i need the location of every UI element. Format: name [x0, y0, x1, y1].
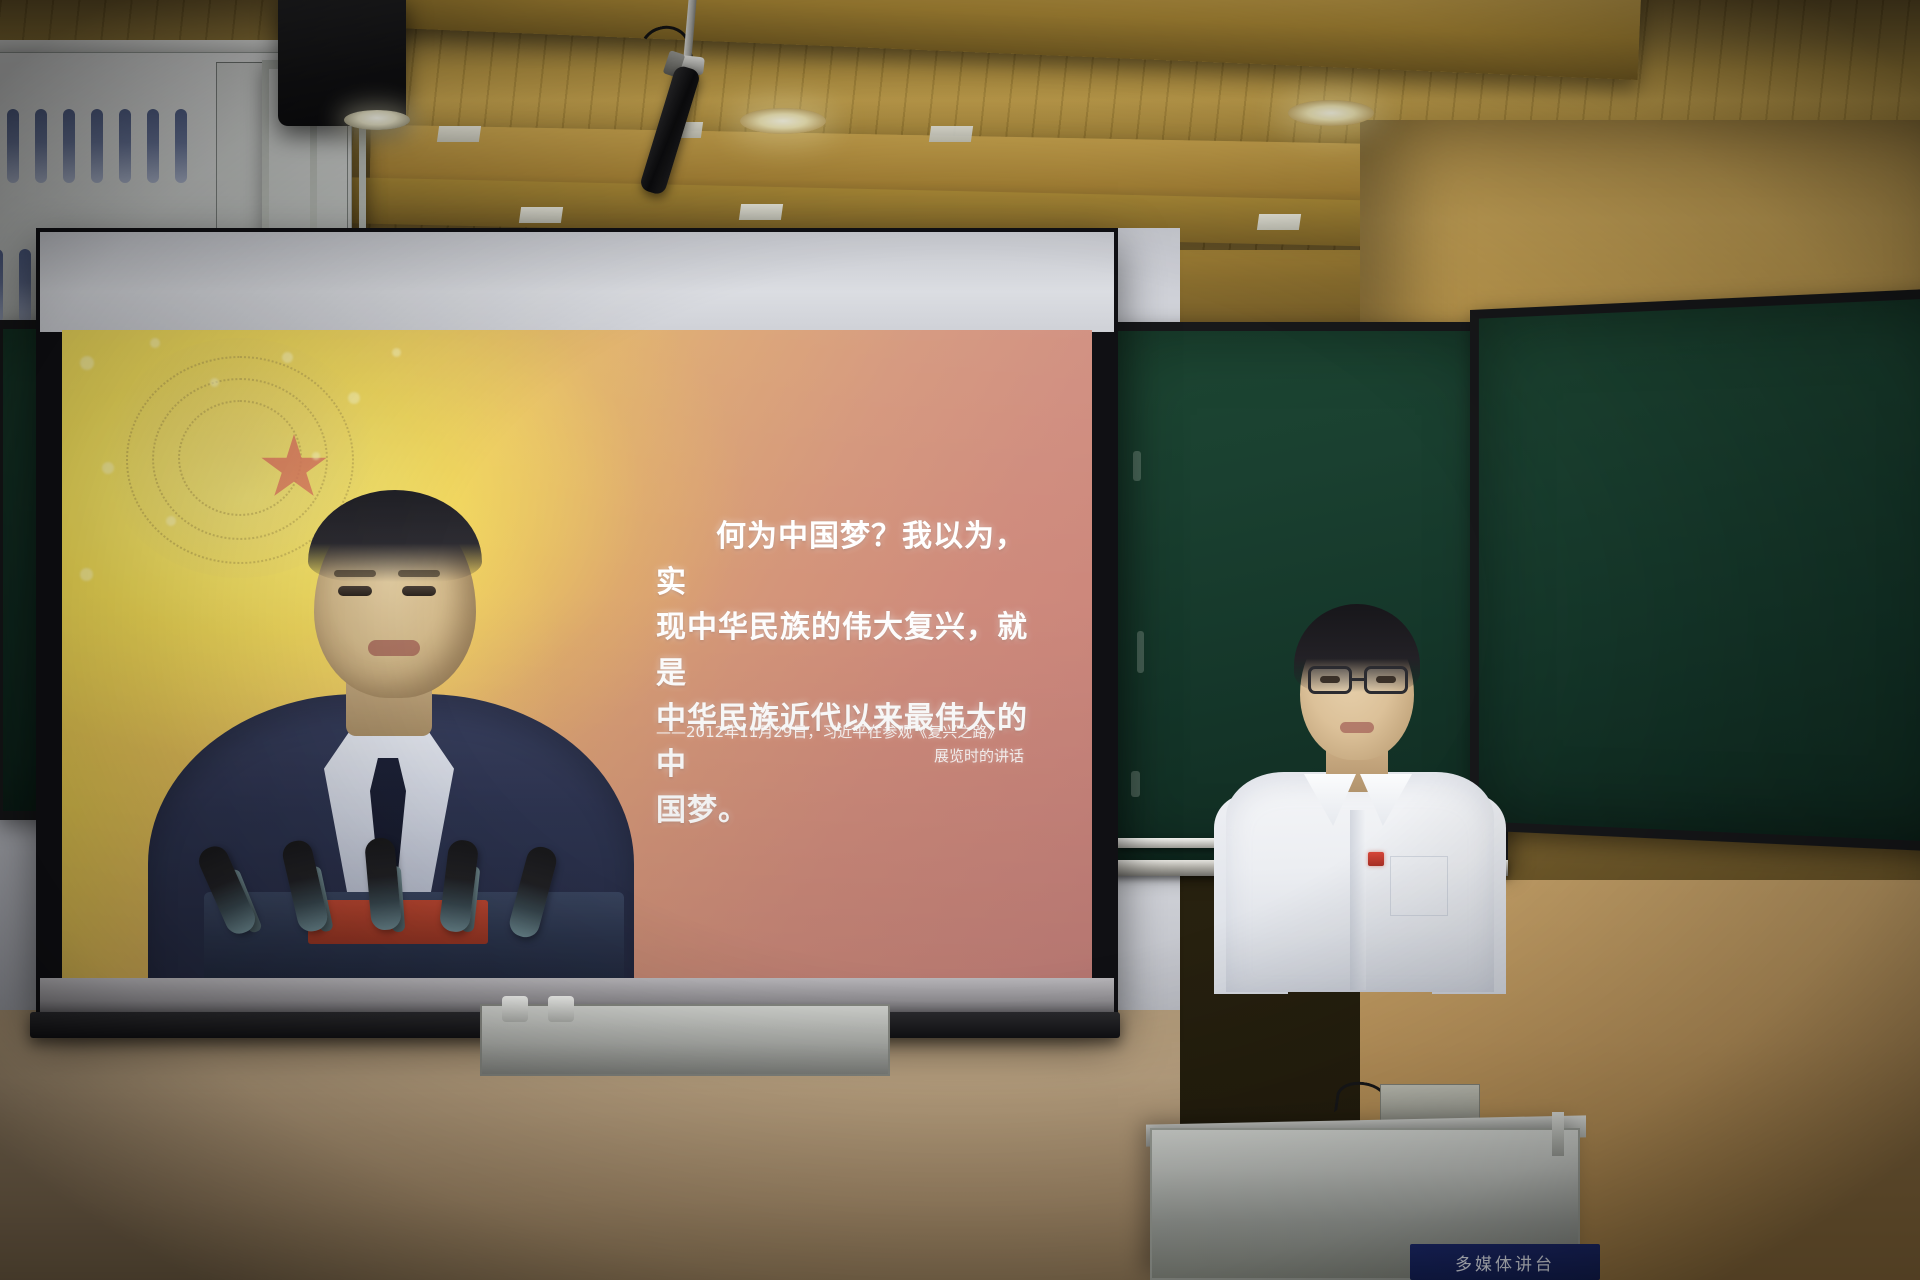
- presentation-slide: 何为中国梦？我以为，实 现中华民族的伟大复兴，就是 中华民族近代以来最伟大的中 …: [62, 330, 1092, 980]
- lecturer-shirt-placket: [1350, 810, 1366, 990]
- photo-eye: [402, 586, 436, 596]
- quote-line: 何为中国梦？我以为，实: [656, 514, 1046, 605]
- bokeh-dot: [80, 356, 94, 370]
- ceiling-access-plate: [929, 126, 973, 142]
- roller-knob[interactable]: [548, 996, 574, 1022]
- projector-lens-icon: [344, 110, 410, 130]
- red-lapel-badge: [1368, 852, 1384, 866]
- photo-brow: [398, 570, 440, 577]
- bokeh-dot: [150, 338, 160, 348]
- standing-lecturer: [1208, 604, 1508, 984]
- roller-knob[interactable]: [502, 996, 528, 1022]
- classroom-photo-scene: 何为中国梦？我以为，实 现中华民族的伟大复兴，就是 中华民族近代以来最伟大的中 …: [0, 0, 1920, 1280]
- slide-attribution: ——2012年11月29日，习近平在参观《复兴之路》 展览时的讲话: [656, 720, 1046, 768]
- recessed-ceiling-light: [1288, 100, 1374, 126]
- eyeglasses-bridge: [1352, 678, 1364, 681]
- xi-jinping-speech-photo: [118, 458, 658, 980]
- quote-line: 现中华民族的伟大复兴，就是: [656, 605, 1046, 696]
- bokeh-dot: [80, 568, 93, 581]
- photo-brow: [334, 570, 376, 577]
- quote-line: 国梦。: [656, 788, 1046, 834]
- recessed-ceiling-light: [740, 108, 826, 134]
- attribution-line-2: 展览时的讲话: [656, 744, 1046, 768]
- ceiling-access-plate: [1257, 214, 1301, 230]
- photo-mouth: [368, 640, 420, 656]
- bokeh-dot: [348, 392, 360, 404]
- ceiling-access-plate: [519, 207, 563, 223]
- attribution-line-1: ——2012年11月29日，习近平在参观《复兴之路》: [656, 720, 1046, 744]
- ceiling-access-plate: [739, 204, 783, 220]
- projection-screen-roller-housing: [480, 1004, 890, 1076]
- lectern-plaque: 多媒体讲台: [1410, 1244, 1600, 1280]
- ceiling-projector: [278, 0, 406, 126]
- ceiling-access-plate: [437, 126, 481, 142]
- bokeh-dot: [282, 352, 293, 363]
- bokeh-dot: [102, 462, 114, 474]
- green-chalkboard-angled: [1470, 287, 1920, 853]
- lecturer-eye: [1376, 676, 1396, 683]
- wall-junction-box: [1380, 1084, 1480, 1122]
- lecturer-mouth: [1340, 722, 1374, 733]
- lectern-mic-post: [1552, 1112, 1564, 1156]
- lecturer-eye: [1320, 676, 1340, 683]
- vent-grille-upper: [7, 109, 187, 183]
- projection-screen-blank-top: [40, 232, 1114, 332]
- photo-eye: [338, 586, 372, 596]
- bokeh-dot: [392, 348, 401, 357]
- slide-quote-block: 何为中国梦？我以为，实 现中华民族的伟大复兴，就是 中华民族近代以来最伟大的中 …: [656, 514, 1046, 833]
- bokeh-dot: [210, 378, 219, 387]
- lecturer-shirt-pocket: [1390, 856, 1448, 916]
